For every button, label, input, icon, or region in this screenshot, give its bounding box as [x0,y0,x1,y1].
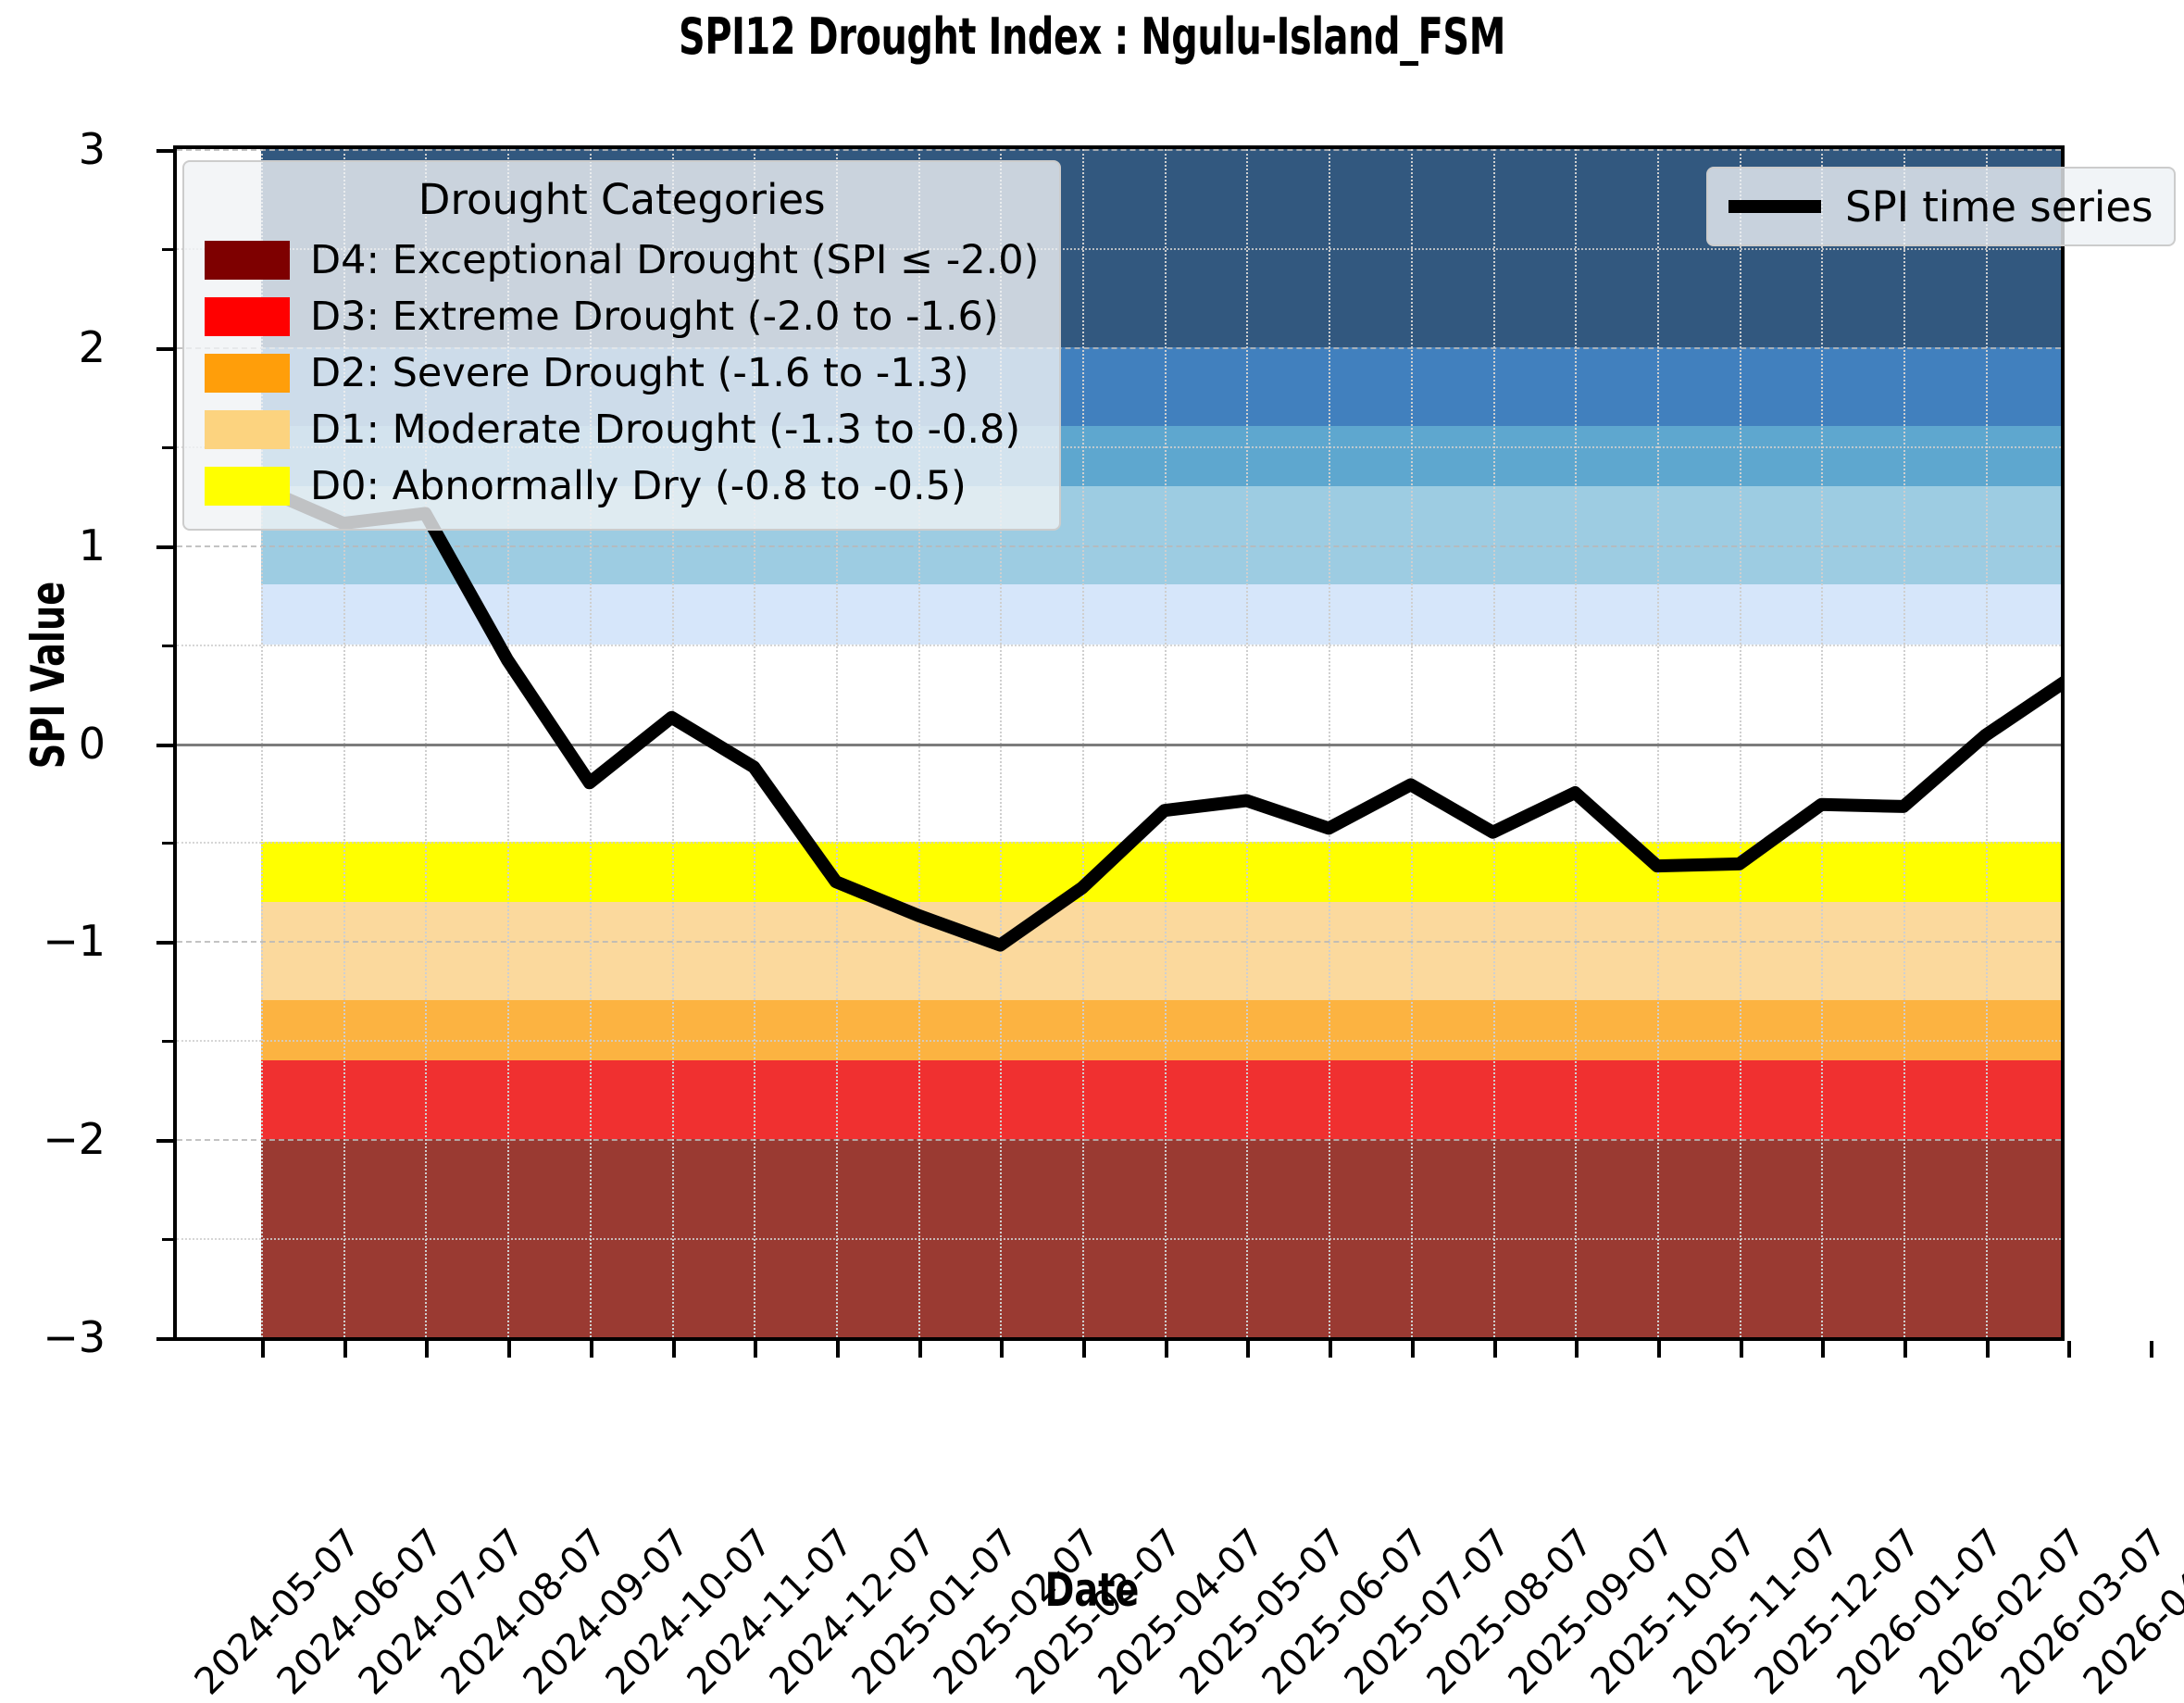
y-tick-2 [156,347,173,351]
x-tick-12 [1246,1341,1250,1358]
x-tick-3 [507,1341,511,1358]
legend-title: Drought Categories [205,175,1039,224]
legend-swatch-d3 [205,297,290,336]
x-tick-7 [836,1341,840,1358]
legend-label-d3: D3: Extreme Drought (-2.0 to -1.6) [310,294,999,340]
y-tick-label--2: −2 [0,1114,106,1164]
y-tick--1 [156,941,173,945]
drought-categories-legend[interactable]: Drought Categories D4: Exceptional Droug… [182,160,1061,531]
y-tick-minor-1.5 [162,446,173,449]
legend-label-d4: D4: Exceptional Drought (SPI ≤ -2.0) [310,237,1039,283]
x-tick-16 [1575,1341,1579,1358]
x-tick-21 [1986,1341,1990,1358]
y-tick-label-3: 3 [0,124,106,174]
x-tick-2 [425,1341,429,1358]
y-tick-minor-2.5 [162,248,173,251]
x-tick-10 [1082,1341,1086,1358]
x-tick-20 [1903,1341,1907,1358]
x-tick-6 [754,1341,757,1358]
legend-item-d4[interactable]: D4: Exceptional Drought (SPI ≤ -2.0) [205,232,1039,288]
legend-label-d0: D0: Abnormally Dry (-0.8 to -0.5) [310,463,967,509]
y-tick-3 [156,149,173,153]
legend-item-d1[interactable]: D1: Moderate Drought (-1.3 to -0.8) [205,401,1039,457]
y-tick-label--3: −3 [0,1312,106,1362]
y-tick--2 [156,1139,173,1143]
legend-item-d2[interactable]: D2: Severe Drought (-1.6 to -1.3) [205,344,1039,401]
page-title: SPI12 Drought Index : Ngulu-Island_FSM [196,7,1987,66]
y-tick-minor-0.5 [162,645,173,647]
legend-item-d3[interactable]: D3: Extreme Drought (-2.0 to -1.6) [205,288,1039,344]
legend-label-d1: D1: Moderate Drought (-1.3 to -0.8) [310,407,1020,453]
y-tick--3 [156,1337,173,1341]
x-tick-23 [2150,1341,2153,1358]
x-tick-0 [261,1341,265,1358]
line-sample-icon [1728,200,1821,213]
x-tick-4 [590,1341,593,1358]
y-tick-0 [156,744,173,747]
legend-swatch-d2 [205,354,290,393]
x-tick-5 [672,1341,676,1358]
x-tick-15 [1493,1341,1497,1358]
x-tick-18 [1740,1341,1743,1358]
legend-swatch-d1 [205,410,290,449]
y-axis-label: SPI Value [21,321,75,1030]
x-tick-14 [1411,1341,1415,1358]
x-tick-9 [1000,1341,1004,1358]
series-legend-label: SPI time series [1845,182,2153,232]
x-tick-13 [1329,1341,1332,1358]
legend-swatch-d4 [205,241,290,280]
y-tick-minor--1.5 [162,1040,173,1043]
y-tick-minor--0.5 [162,842,173,845]
chart-figure: SPI12 Drought Index : Ngulu-Island_FSM 3… [0,0,2184,1640]
x-tick-1 [343,1341,347,1358]
x-tick-11 [1165,1341,1168,1358]
legend-item-d0[interactable]: D0: Abnormally Dry (-0.8 to -0.5) [205,457,1039,514]
legend-rows: D4: Exceptional Drought (SPI ≤ -2.0)D3: … [205,232,1039,514]
legend-swatch-d0 [205,467,290,506]
y-tick-1 [156,545,173,549]
x-tick-19 [1821,1341,1825,1358]
x-tick-17 [1657,1341,1661,1358]
x-axis-label: Date [164,1563,2020,1617]
x-tick-8 [918,1341,922,1358]
series-legend[interactable]: SPI time series [1706,167,2176,246]
x-tick-22 [2067,1341,2071,1358]
legend-label-d2: D2: Severe Drought (-1.6 to -1.3) [310,350,968,396]
y-tick-minor--2.5 [162,1238,173,1241]
